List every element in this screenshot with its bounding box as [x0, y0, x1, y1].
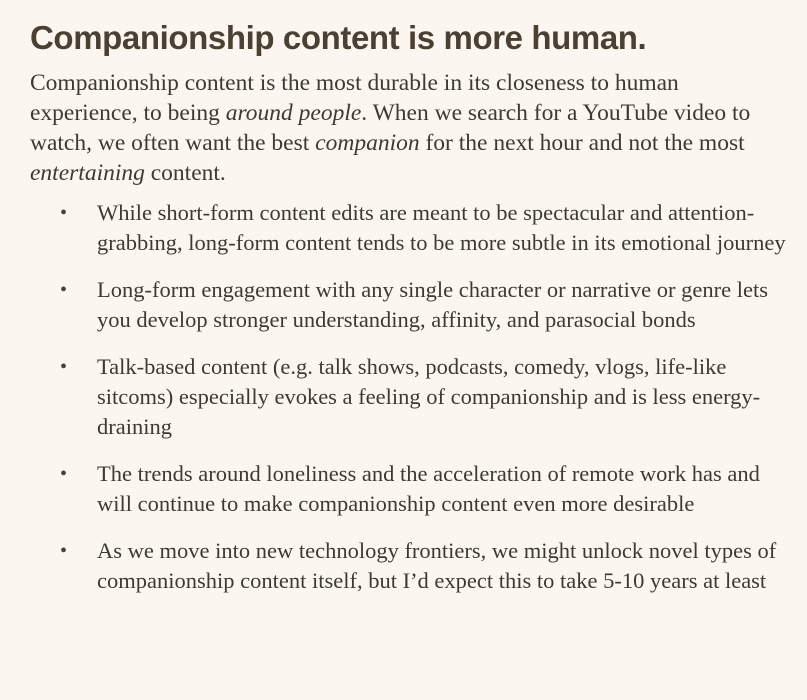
lead-paragraph: Companionship content is the most durabl… [30, 68, 782, 188]
lead-emphasis-entertaining: entertaining [30, 160, 145, 186]
list-item-text: While short-form content edits are meant… [97, 198, 796, 258]
lead-emphasis-companion: companion [315, 130, 419, 156]
lead-emphasis-around-people: around people [226, 100, 362, 126]
slide-canvas: Companionship content is more human. Com… [0, 0, 807, 700]
bullet-list: • While short-form content edits are mea… [56, 198, 796, 596]
bullet-marker-icon: • [60, 198, 74, 228]
list-item-text: As we move into new technology frontiers… [97, 536, 796, 596]
list-item-text: Talk-based content (e.g. talk shows, pod… [97, 352, 796, 442]
bullet-marker-icon: • [60, 536, 74, 566]
list-item: • The trends around loneliness and the a… [56, 459, 796, 519]
list-item-text: The trends around loneliness and the acc… [97, 459, 796, 519]
list-item: • Talk-based content (e.g. talk shows, p… [56, 352, 796, 442]
list-item: • Long-form engagement with any single c… [56, 275, 796, 335]
bullet-marker-icon: • [60, 459, 74, 489]
lead-segment-4: content. [145, 160, 226, 186]
page-title: Companionship content is more human. [30, 18, 790, 58]
list-item: • While short-form content edits are mea… [56, 198, 796, 258]
lead-segment-3: for the next hour and not the most [420, 130, 745, 156]
bullet-marker-icon: • [60, 352, 74, 382]
list-item: • As we move into new technology frontie… [56, 536, 796, 596]
bullet-marker-icon: • [60, 275, 74, 305]
list-item-text: Long-form engagement with any single cha… [97, 275, 796, 335]
